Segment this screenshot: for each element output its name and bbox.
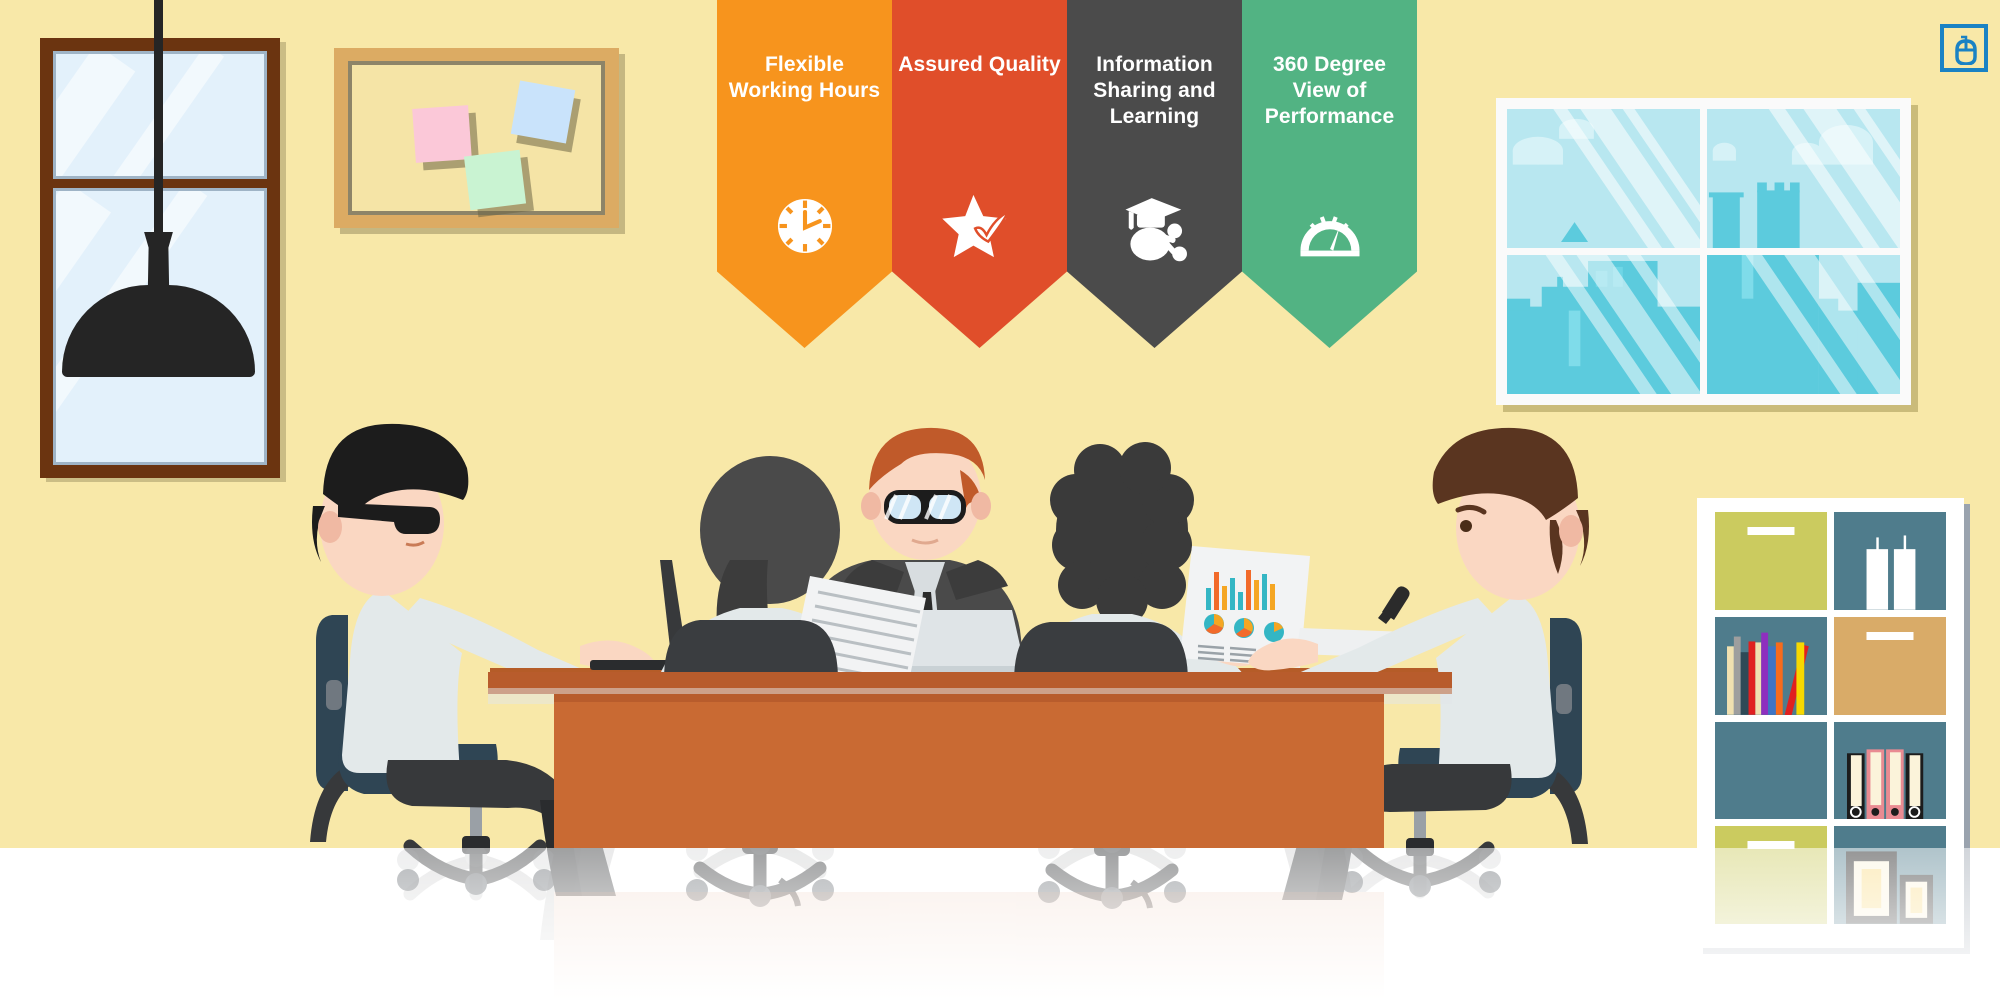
meeting-desk <box>488 672 1452 848</box>
eyeglasses <box>884 490 966 524</box>
mouse-cursor-badge[interactable] <box>1940 24 1988 72</box>
floor-reflections <box>0 831 2000 1000</box>
illustration-canvas: Flexible Working Hours <box>0 0 2000 1000</box>
meeting-scene <box>0 0 2000 1000</box>
mouse-icon <box>1953 35 1979 65</box>
pen <box>1378 586 1410 624</box>
